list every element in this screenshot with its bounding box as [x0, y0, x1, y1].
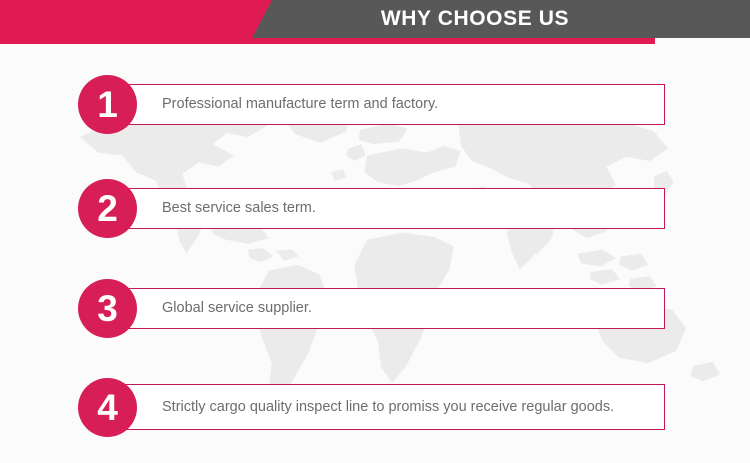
feature-text: Best service sales term.: [112, 199, 328, 218]
feature-number-badge: 2: [78, 179, 137, 238]
feature-number-badge: 3: [78, 279, 137, 338]
feature-text: Global service supplier.: [112, 299, 324, 318]
feature-number-badge: 4: [78, 378, 137, 437]
feature-text: Strictly cargo quality inspect line to p…: [112, 398, 626, 417]
feature-text: Professional manufacture term and factor…: [112, 95, 450, 114]
feature-number-badge: 1: [78, 75, 137, 134]
feature-text-box: Best service sales term.: [111, 188, 665, 229]
feature-text-box: Strictly cargo quality inspect line to p…: [111, 384, 665, 430]
feature-text-box: Global service supplier.: [111, 288, 665, 329]
feature-text-box: Professional manufacture term and factor…: [111, 84, 665, 125]
feature-list: Professional manufacture term and factor…: [0, 0, 750, 463]
why-choose-us-banner: WHY CHOOSE US Professional manufacture t…: [0, 0, 750, 463]
